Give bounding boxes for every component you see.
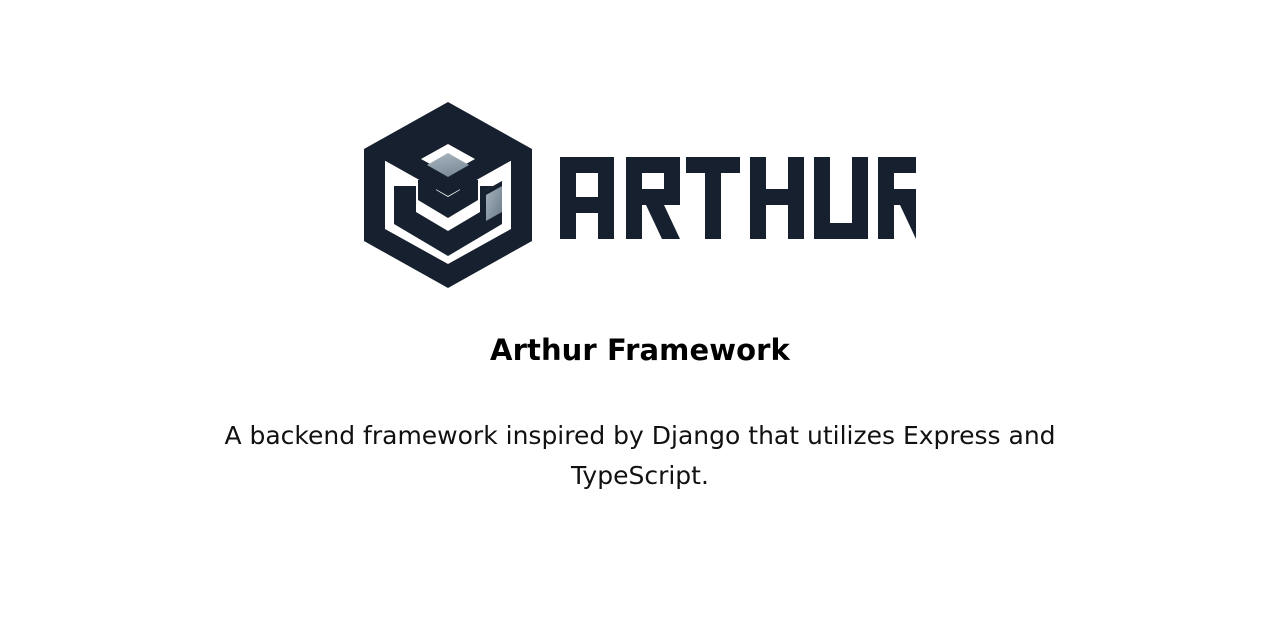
arthur-wordmark-text: ARTHUR bbox=[560, 157, 916, 239]
page-title: Arthur Framework bbox=[0, 332, 1280, 370]
logo-lockup: ARTHUR bbox=[0, 95, 1280, 295]
page-root: ARTHUR Arthur Framework A backend framew… bbox=[0, 0, 1280, 640]
arthur-hexagon-cube-logo-icon bbox=[364, 102, 532, 288]
page-description: A backend framework inspired by Django t… bbox=[190, 416, 1090, 496]
